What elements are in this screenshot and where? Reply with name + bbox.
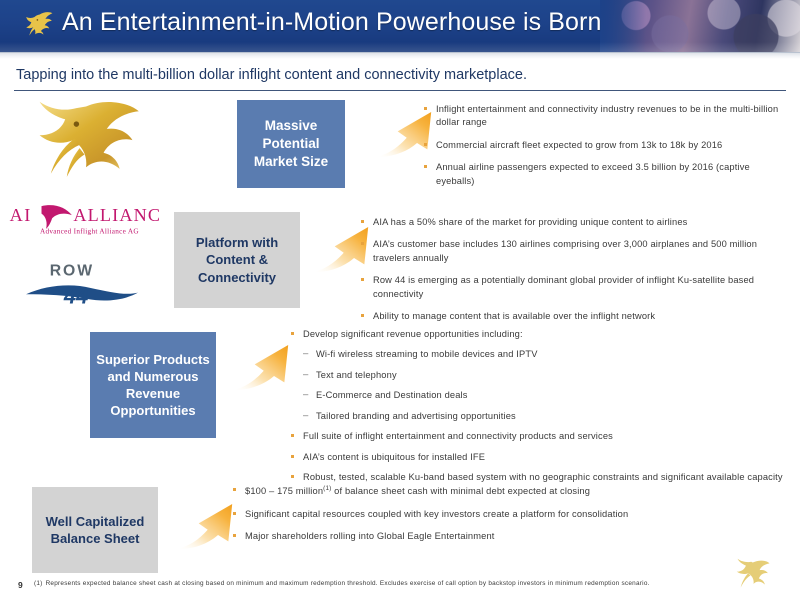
bullet-item: Commercial aircraft fleet expected to gr… [423, 139, 783, 152]
header-divider [0, 52, 800, 59]
sub-bullet-item: E-Commerce and Destination deals [290, 389, 785, 402]
bullet-item: Full suite of inflight entertainment and… [290, 430, 785, 443]
bullet-item: Develop significant revenue opportunitie… [290, 328, 785, 341]
section-label-massive-potential-market-size: Massive Potential Market Size [237, 100, 345, 188]
section-label-platform-with-content-and-connectivity: Platform with Content & Connectivity [174, 212, 300, 308]
svg-text:ROW: ROW [50, 262, 94, 279]
bullet-item: Row 44 is emerging as a potentially domi… [360, 274, 785, 301]
bullet-item: Inflight entertainment and connectivity … [423, 103, 783, 130]
header-swoosh-decoration [0, 42, 800, 52]
subtitle-divider [14, 90, 786, 91]
bullet-item: Major shareholders rolling into Global E… [232, 530, 777, 543]
eagle-logo-icon [22, 10, 56, 42]
footnote-mark: (1) [34, 580, 43, 587]
svg-text:Advanced Inflight Alliance AG: Advanced Inflight Alliance AG [40, 227, 139, 235]
sub-bullet-item: Wi-fi wireless streaming to mobile devic… [290, 348, 785, 361]
section-label-well-capitalized-balance-sheet: Well Capitalized Balance Sheet [32, 487, 158, 573]
section-label-superior-products-and-numerous-revenue-opportunities: Superior Products and Numerous Revenue O… [90, 332, 216, 438]
bullet-list-2: AIA has a 50% share of the market for pr… [360, 216, 785, 333]
eagle-watermark-icon [732, 558, 772, 596]
slide-header: An Entertainment-in-Motion Powerhouse is… [0, 0, 800, 52]
footnote-text: Represents expected balance sheet cash a… [46, 580, 650, 587]
bullet-item: AIA’s content is ubiquitous for installe… [290, 451, 785, 464]
bullet-list-3: Develop significant revenue opportunitie… [290, 328, 785, 494]
bullet-item: Robust, tested, scalable Ku-band based s… [290, 471, 785, 484]
row-44-logo: ROW 44 [22, 258, 142, 310]
page-number: 9 [18, 580, 23, 590]
bullet-item: Ability to manage content that is availa… [360, 310, 785, 323]
svg-text:ALLIANCE: ALLIANCE [73, 205, 160, 225]
bullet-list-1: Inflight entertainment and connectivity … [423, 103, 783, 197]
bullet-item: Annual airline passengers expected to ex… [423, 161, 783, 188]
bullet-item: Significant capital resources coupled wi… [232, 508, 777, 521]
slide-title: An Entertainment-in-Motion Powerhouse is… [62, 8, 602, 37]
aia-alliance-logo: AI ALLIANCE Advanced Inflight Alliance A… [8, 200, 160, 244]
bullet-item: AIA has a 50% share of the market for pr… [360, 216, 785, 229]
slide-subtitle: Tapping into the multi-billion dollar in… [16, 67, 527, 83]
sub-bullet-item: Text and telephony [290, 369, 785, 382]
global-eagle-logo [30, 100, 142, 185]
arrow-icon-3 [232, 336, 298, 394]
bullet-text-amount: $100 – 175 million [245, 486, 323, 496]
bullet-item: $100 – 175 million(1) of balance sheet c… [232, 484, 777, 499]
bullet-list-4: $100 – 175 million(1) of balance sheet c… [232, 484, 777, 553]
svg-text:44: 44 [63, 284, 89, 309]
bullet-item: AIA’s customer base includes 130 airline… [360, 238, 785, 265]
svg-text:AI: AI [10, 205, 32, 225]
sub-bullet-item: Tailored branding and advertising opport… [290, 410, 785, 423]
bullet-text-rest: of balance sheet cash with minimal debt … [331, 486, 590, 496]
footnote: (1)Represents expected balance sheet cas… [34, 580, 734, 588]
